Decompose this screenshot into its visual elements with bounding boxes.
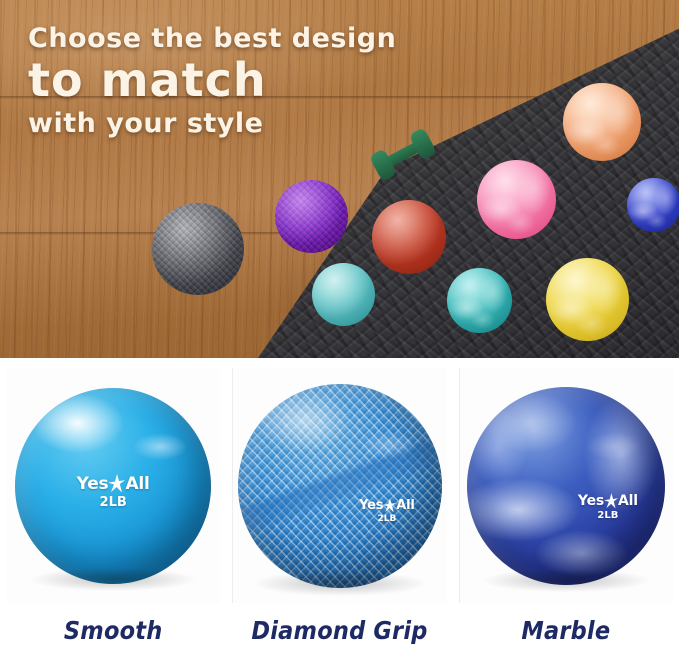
star-icon: [383, 498, 396, 513]
ball-ground-shadow: [483, 569, 649, 593]
headline-line-1: Choose the best design: [28, 22, 396, 56]
caption-marble: Marble: [453, 616, 679, 645]
ball-gloss-highlight: [238, 384, 442, 588]
hero-lifestyle-photo: Choose the best design to match with you…: [0, 0, 679, 358]
headline-line-3: with your style: [28, 107, 396, 141]
ball-highlight: [447, 268, 512, 333]
caption-diamond-grip: Diamond Grip: [226, 616, 452, 645]
hero-ball-red-smooth: [372, 200, 446, 274]
brand-text-yes: Yes: [578, 493, 604, 509]
hero-ball-blue-marble: [627, 178, 679, 232]
ball-ground-shadow: [31, 568, 196, 592]
ball-highlight: [312, 263, 375, 326]
brand-text-all: All: [396, 498, 414, 513]
hero-ball-pink-marble: [477, 160, 556, 239]
hero-ball-orange-marble: [563, 83, 641, 161]
brand-logo: Yes All 2LB: [15, 474, 211, 510]
hero-ball-purple-grip: [275, 180, 348, 253]
brand-text-yes: Yes: [359, 498, 383, 513]
weight-label: 2LB: [15, 495, 211, 510]
headline-line-2: to match: [28, 54, 396, 106]
weight-label: 2LB: [336, 514, 438, 524]
product-photo-marble: Yes All 2LB: [459, 368, 673, 603]
product-variant-panels: Yes All 2LB Smooth: [0, 358, 679, 663]
smooth-ball-image: Yes All 2LB: [15, 388, 211, 584]
hero-ball-teal-smooth: [312, 263, 375, 326]
ball-highlight: [627, 178, 679, 232]
ball-highlight: [546, 258, 629, 341]
ball-highlight: [372, 200, 446, 274]
diamond-grip-ball-image: Yes All 2LB: [238, 384, 442, 588]
brand-text-all: All: [125, 474, 149, 494]
ball-highlight: [477, 160, 556, 239]
ball-ground-shadow: [254, 571, 425, 595]
caption-smooth: Smooth: [0, 616, 226, 645]
marble-ball-image: Yes All 2LB: [467, 387, 665, 585]
product-panel-diamond-grip[interactable]: Yes All 2LB Diamond Grip: [226, 358, 452, 663]
hero-ball-dark-gray-grip: [152, 203, 244, 295]
ball-highlight: [152, 203, 244, 295]
weight-label: 2LB: [558, 510, 657, 521]
product-photo-diamond-grip: Yes All 2LB: [232, 368, 446, 603]
brand-text-yes: Yes: [77, 474, 109, 494]
ball-highlight: [275, 180, 348, 253]
product-infographic: Choose the best design to match with you…: [0, 0, 679, 663]
ball-gloss-highlight: [467, 387, 665, 585]
hero-ball-teal-marble: [447, 268, 512, 333]
product-panel-smooth[interactable]: Yes All 2LB Smooth: [0, 358, 226, 663]
product-panel-marble[interactable]: Yes All 2LB Marble: [453, 358, 679, 663]
brand-logo: Yes All 2LB: [336, 498, 438, 524]
brand-text-all: All: [618, 493, 638, 509]
brand-logo: Yes All 2LB: [558, 493, 657, 521]
star-icon: [108, 474, 125, 493]
star-icon: [604, 493, 618, 509]
product-photo-smooth: Yes All 2LB: [6, 368, 220, 603]
hero-ball-yellow-marble: [546, 258, 629, 341]
hero-headline: Choose the best design to match with you…: [28, 22, 396, 141]
ball-highlight: [563, 83, 641, 161]
